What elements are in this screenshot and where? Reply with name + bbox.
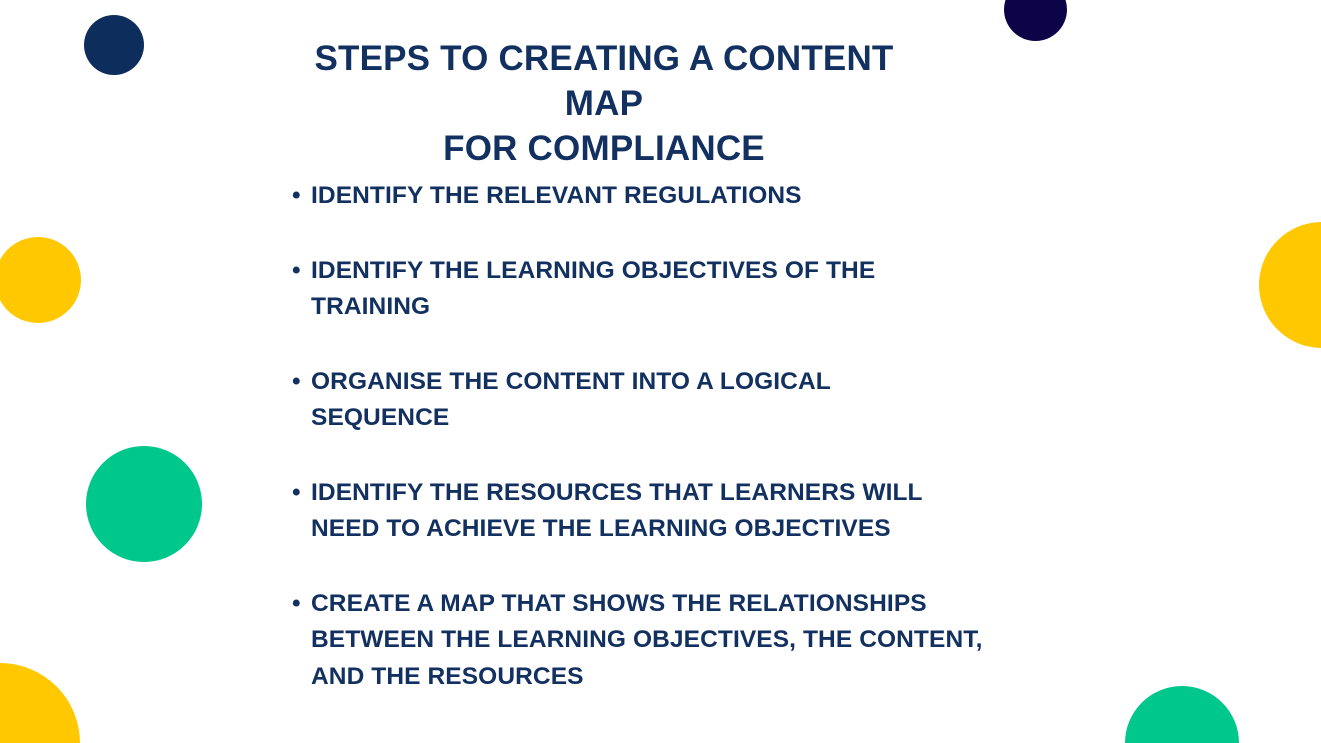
bullet-point-icon: • [285,364,311,401]
teal-circle-left-decoration [86,446,202,562]
teal-half-circle-bottom-right-decoration [1125,686,1239,743]
slide-title: STEPS TO CREATING A CONTENT MAP FOR COMP… [290,36,918,171]
bullet-point-icon: • [285,475,311,512]
navy-circle-top-left-decoration [84,15,144,75]
list-item: • IDENTIFY THE RELEVANT REGULATIONS [285,178,1085,215]
yellow-half-circle-right-decoration [1259,222,1321,348]
list-item: • CREATE A MAP THAT SHOWS THE RELATIONSH… [285,586,1085,696]
steps-bullet-list: • IDENTIFY THE RELEVANT REGULATIONS • ID… [285,178,1085,695]
list-item-label: IDENTIFY THE LEARNING OBJECTIVES OF THE … [311,253,1085,326]
yellow-circle-left-decoration [0,237,81,323]
list-item: • IDENTIFY THE LEARNING OBJECTIVES OF TH… [285,253,1085,326]
bullet-point-icon: • [285,178,311,215]
list-item-label: IDENTIFY THE RESOURCES THAT LEARNERS WIL… [311,475,1085,548]
list-item: • IDENTIFY THE RESOURCES THAT LEARNERS W… [285,475,1085,548]
indigo-circle-top-right-decoration [1004,0,1067,41]
list-item: • ORGANISE THE CONTENT INTO A LOGICAL SE… [285,364,1085,437]
bullet-point-icon: • [285,586,311,623]
bullet-point-icon: • [285,253,311,290]
list-item-label: ORGANISE THE CONTENT INTO A LOGICAL SEQU… [311,364,1085,437]
slide-canvas: STEPS TO CREATING A CONTENT MAP FOR COMP… [0,0,1321,743]
list-item-label: CREATE A MAP THAT SHOWS THE RELATIONSHIP… [311,586,1085,696]
list-item-label: IDENTIFY THE RELEVANT REGULATIONS [311,178,1085,215]
yellow-quarter-circle-bottom-left-decoration [0,663,80,743]
